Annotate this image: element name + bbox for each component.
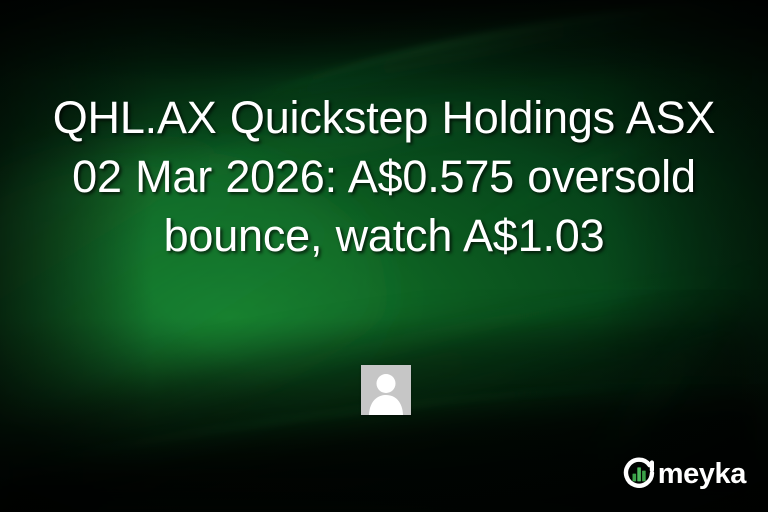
social-share-card: QHL.AX Quickstep Holdings ASX 02 Mar 202… [0, 0, 768, 512]
person-placeholder-icon [361, 365, 411, 415]
meyka-logo[interactable]: meyka [623, 456, 746, 490]
headline-block: QHL.AX Quickstep Holdings ASX 02 Mar 202… [0, 88, 768, 265]
page-title: QHL.AX Quickstep Holdings ASX 02 Mar 202… [34, 88, 734, 265]
logo-wordmark: meyka [658, 460, 746, 489]
circular-bar-chart-icon [623, 457, 655, 489]
avatar [361, 365, 411, 415]
